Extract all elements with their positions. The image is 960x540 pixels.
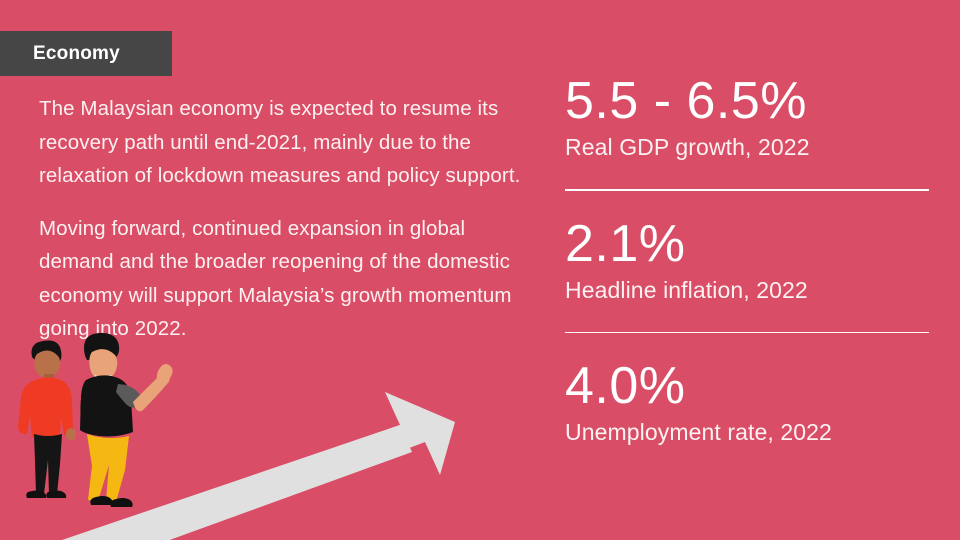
stat-value-real-gdp-growth: 5.5 - 6.5% [565,72,933,130]
person-right-sleeve [116,384,142,407]
person-right-pants [87,434,129,502]
person-left-shoe-2 [46,491,66,499]
person-left-neck [44,374,54,382]
body-copy: The Malaysian economy is expected to res… [39,92,539,346]
person-right-arm-down [80,386,90,429]
stat-block-headline-inflation: 2.1% Headline inflation, 2022 [565,215,933,305]
stat-block-unemployment-rate: 4.0% Unemployment rate, 2022 [565,357,933,447]
rising-arrow-icon [0,392,455,540]
section-tag: Economy [0,31,172,76]
stat-label-headline-inflation: Headline inflation, 2022 [565,275,933,305]
person-right-shoe-2 [110,498,132,507]
person-left-pants [34,434,62,494]
person-right-pointing-hand [157,364,173,383]
person-left-shirt [18,377,73,439]
section-tag-label: Economy [33,44,120,63]
stat-label-real-gdp-growth: Real GDP growth, 2022 [565,132,933,162]
stat-divider-2 [565,332,929,334]
illustration-two-people-on-rising-arrow [0,330,520,540]
person-right-collar [92,375,114,386]
person-right-head [89,349,117,379]
body-paragraph-1: The Malaysian economy is expected to res… [39,92,539,193]
person-left-figure [18,340,76,498]
economy-slide: Economy The Malaysian economy is expecte… [0,0,960,540]
person-left-head [34,350,60,377]
person-right-figure [80,333,173,507]
person-left-hand [66,428,76,440]
person-right-shirt [80,375,133,436]
stat-divider-1 [565,189,929,191]
stat-label-unemployment-rate: Unemployment rate, 2022 [565,417,933,447]
body-paragraph-2: Moving forward, continued expansion in g… [39,212,539,346]
stat-value-headline-inflation: 2.1% [565,215,933,273]
stat-block-real-gdp-growth: 5.5 - 6.5% Real GDP growth, 2022 [565,72,933,162]
person-right-forearm [133,373,170,411]
stat-value-unemployment-rate: 4.0% [565,357,933,415]
person-right-shoe-1 [90,496,112,505]
statistics-panel: 5.5 - 6.5% Real GDP growth, 2022 2.1% He… [565,72,933,447]
person-left-shoe-1 [26,491,46,499]
